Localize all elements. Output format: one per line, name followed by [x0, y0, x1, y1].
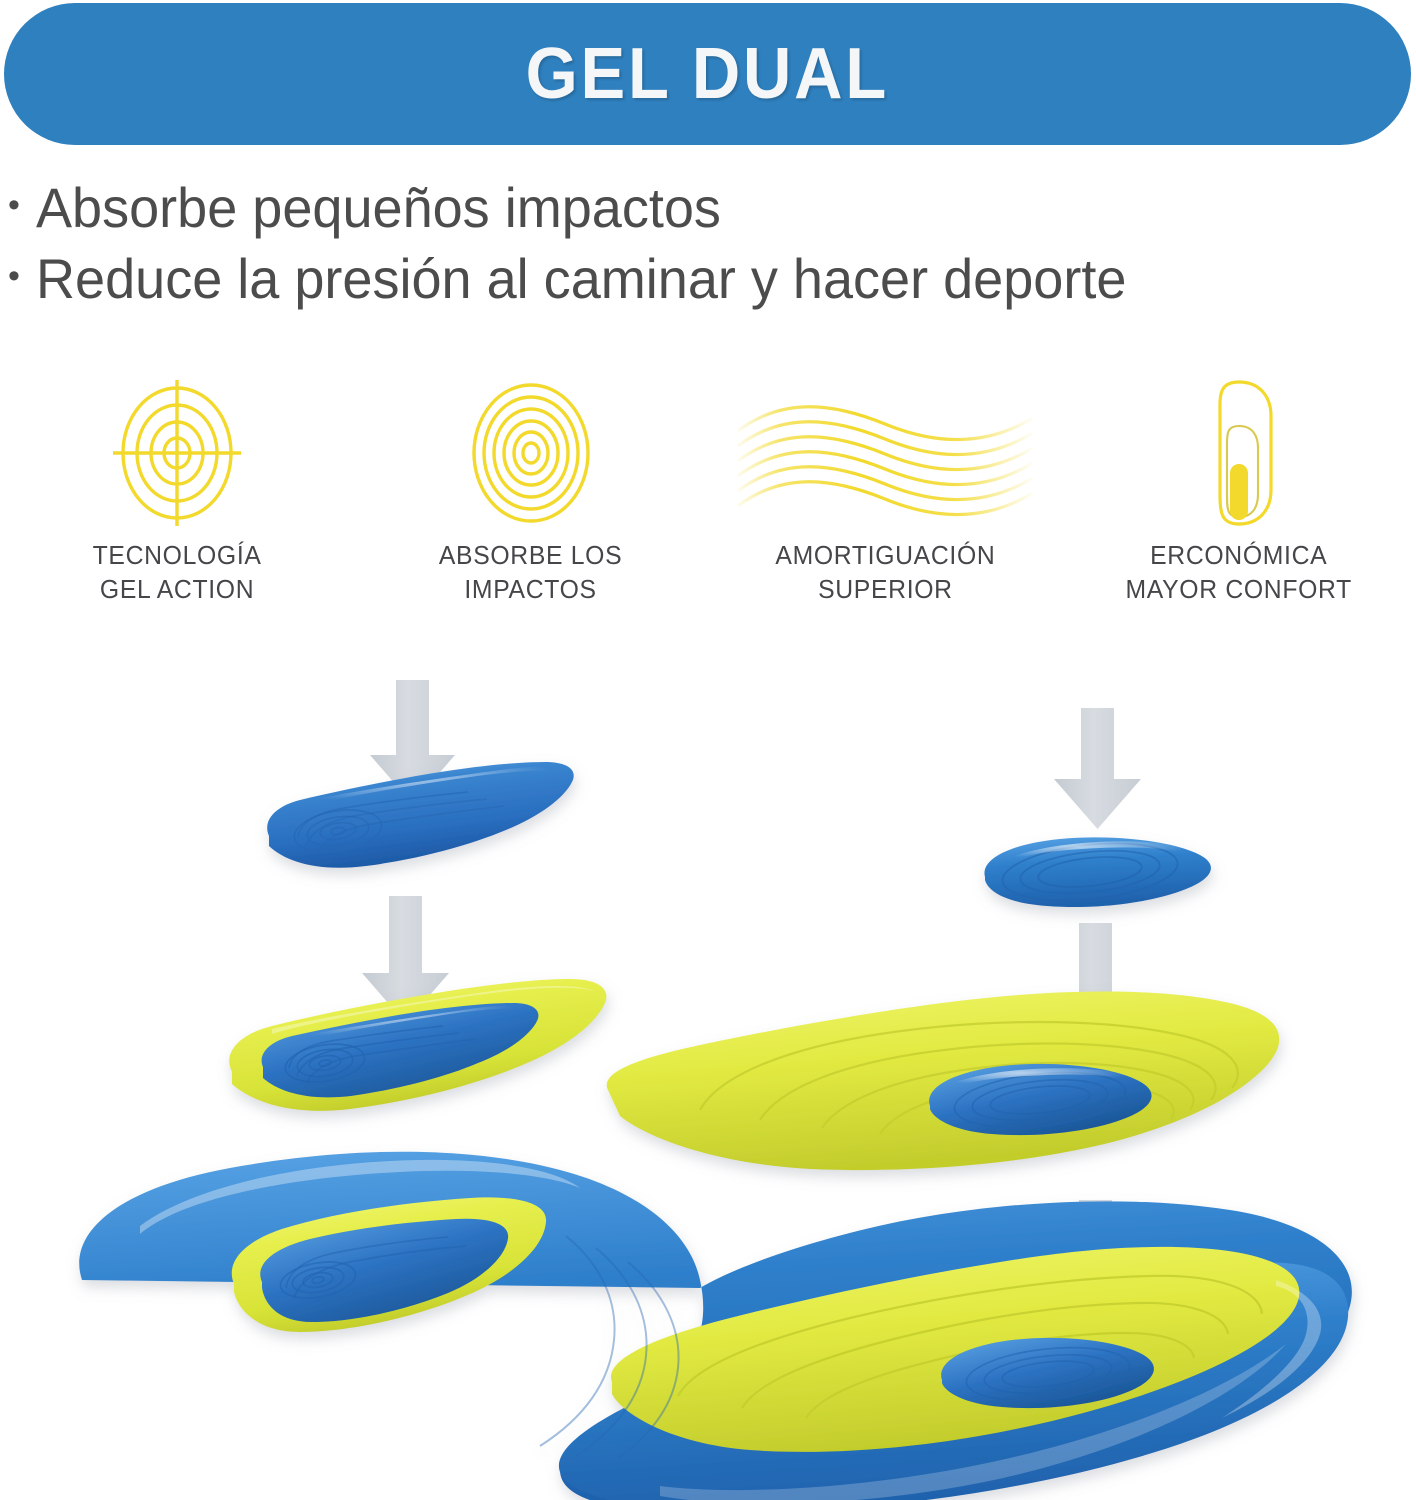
feature-item-gel-action: TECNOLOGÍA GEL ACTION [0, 378, 354, 628]
feature-caption: ERCONÓMICA MAYOR CONFORT [1126, 540, 1352, 608]
feature-caption: ABSORBE LOS IMPACTOS [439, 540, 622, 608]
down-arrow-icon [1054, 708, 1141, 829]
benefits-list: • Absorbe pequeños impactos • Reduce la … [8, 176, 1408, 319]
feature-icon-row: TECNOLOGÍA GEL ACTION [0, 378, 1416, 628]
forefoot-blue-gel-pad [267, 762, 574, 868]
list-item: • Reduce la presión al caminar y hacer d… [8, 247, 1408, 310]
complete-insole [79, 1152, 1352, 1500]
product-title-banner: GEL DUAL [4, 3, 1411, 145]
crosshair-target-icon [97, 378, 257, 528]
feature-caption-line1: TECNOLOGÍA [93, 540, 262, 574]
feature-caption: TECNOLOGÍA GEL ACTION [93, 540, 262, 608]
feature-caption-line2: IMPACTOS [439, 574, 622, 608]
feature-item-cushioning: AMORTIGUACIÓN SUPERIOR [708, 378, 1062, 628]
feature-caption-line2: GEL ACTION [93, 574, 262, 608]
bullet-marker-icon: • [8, 259, 20, 293]
benefit-text: Absorbe pequeños impactos [36, 176, 721, 239]
infographic-page: GEL DUAL • Absorbe pequeños impactos • R… [0, 0, 1416, 1500]
feature-caption-line2: MAYOR CONFORT [1126, 574, 1352, 608]
bullet-marker-icon: • [8, 188, 20, 222]
feature-item-absorbs-impacts: ABSORBE LOS IMPACTOS [354, 378, 708, 628]
list-item: • Absorbe pequeños impactos [8, 176, 1408, 239]
concentric-rings-icon [451, 378, 611, 528]
wavy-lines-icon [735, 378, 1035, 528]
benefit-text: Reduce la presión al caminar y hacer dep… [36, 247, 1126, 310]
feature-caption-line1: ABSORBE LOS [439, 540, 622, 574]
insole-assembly-diagram [0, 640, 1416, 1500]
forefoot-gel-pad-in-yellow-base [229, 979, 606, 1111]
page-title: GEL DUAL [526, 33, 889, 115]
feature-caption-line1: AMORTIGUACIÓN [775, 540, 995, 574]
heel-blue-gel-pad [984, 836, 1210, 908]
feature-caption: AMORTIGUACIÓN SUPERIOR [775, 540, 995, 608]
heel-gel-pad-in-yellow-base [607, 992, 1280, 1171]
feature-item-ergonomic: ERCONÓMICA MAYOR CONFORT [1062, 378, 1416, 628]
feature-caption-line2: SUPERIOR [775, 574, 995, 608]
feature-caption-line1: ERCONÓMICA [1126, 540, 1352, 574]
insole-outline-icon [1194, 378, 1284, 528]
